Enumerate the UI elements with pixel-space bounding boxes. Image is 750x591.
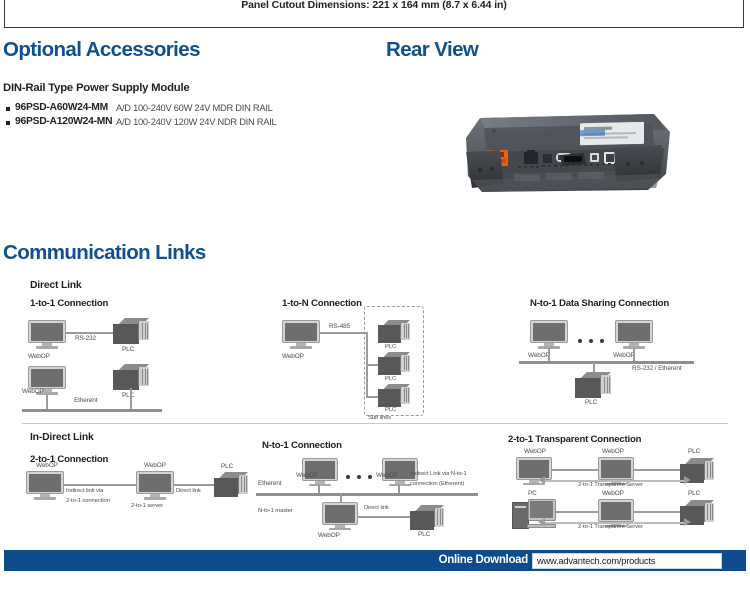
webop-monitor [530, 320, 568, 350]
webop-label: WebOP [524, 448, 546, 455]
panel-cutout-box: Panel Cutout Dimensions: 221 x 164 mm (8… [4, 0, 744, 28]
webop-monitor [26, 471, 64, 501]
sub-links-caption: Sub links [368, 415, 391, 421]
webop-monitor [136, 471, 174, 501]
transparent-link-line [556, 511, 598, 513]
two-to-one-server-caption: 2-to-1 server [131, 503, 163, 509]
panel-cutout-caption: Panel Cutout Dimensions: 221 x 164 mm (8… [5, 0, 743, 11]
webop-label: WebOP [613, 352, 635, 359]
plc-device [378, 384, 410, 407]
webop-master-monitor [322, 502, 358, 531]
plc-label: PLC [585, 399, 597, 406]
page-root: Panel Cutout Dimensions: 221 x 164 mm (8… [0, 0, 750, 591]
plc-device [378, 352, 410, 375]
rs485-label: RS-485 [329, 323, 350, 330]
communication-diagrams: Direct Link 1-to-1 Connection WebOP RS-2… [0, 268, 750, 540]
accessory-description: A/D 100-240V 120W 24V NDR DIN RAIL [116, 117, 276, 127]
transparent-link-line [552, 469, 598, 471]
webop-server-label: WebOP [602, 448, 624, 455]
plc-device [575, 372, 611, 398]
one-to-n-title: 1-to-N Connection [282, 298, 362, 309]
accessory-description: A/D 100-240V 60W 24V MDR DIN RAIL [116, 103, 273, 113]
drop-line [548, 348, 550, 362]
n-to-1-data-sharing-title: N-to-1 Data Sharing Connection [530, 298, 669, 309]
n-to-one-indirect-title: N-to-1 Connection [262, 440, 342, 451]
accessory-sku: 96PSD-A120W24-MN [15, 116, 112, 127]
arrow-left-icon [538, 518, 545, 526]
webop-label: WebOP [376, 472, 398, 479]
drop-line [130, 388, 132, 410]
rear-view-product-image [448, 100, 684, 205]
plc-label: PLC [418, 531, 430, 538]
rs232-label: RS-232 [75, 335, 96, 342]
indirect-link-line [64, 484, 136, 486]
rs485-link-line [320, 332, 368, 334]
plc-label: PLC [385, 407, 396, 413]
din-rail-group-title: DIN-Rail Type Power Supply Module [3, 82, 190, 94]
ellipsis-dots [578, 330, 611, 348]
webop-server-label: WebOP [144, 462, 166, 469]
transparent-link-line [634, 469, 682, 471]
etherent-bus-label: Etherent [258, 480, 281, 487]
two-to-one-transparent-title: 2-to-1 Transparent Connection [508, 434, 641, 445]
plc-label: PLC [385, 344, 396, 350]
direct-link-group-label: Direct Link [30, 280, 82, 291]
online-download-url-box[interactable]: www.advantech.com/products [532, 553, 722, 569]
webop-label: WebOP [28, 353, 50, 360]
ethernet-bus-line [22, 409, 162, 412]
transparent-server-caption: 2-to-1 Transparent Server [578, 524, 643, 530]
webop-server-label: WebOP [602, 490, 624, 497]
online-download-label: Online Download [439, 554, 528, 566]
arrow-left-icon [538, 476, 545, 484]
arrow-right-icon [684, 476, 691, 484]
rs232-link-line [66, 332, 113, 334]
webop-monitor [282, 320, 320, 350]
n-to-one-master-label: N-to-1 master [258, 508, 293, 514]
plc-device [113, 318, 149, 344]
plc-device [214, 472, 248, 497]
n-to-one-note-line1: Indirect Link via N-to-1 [410, 471, 467, 477]
pc-label: PC [528, 490, 537, 497]
ellipsis-dots [346, 466, 379, 484]
plc-label: PLC [688, 448, 700, 455]
plc-label: PLC [122, 346, 134, 353]
webop-label: WebOP [36, 462, 58, 469]
plc-device [113, 364, 149, 390]
accessory-sku: 96PSD-A60W24-MM [15, 102, 108, 113]
webop-label: WebOP [22, 388, 44, 395]
direct-link-label: Direct link [176, 488, 201, 494]
transparent-server-caption: 2-to-1 Transparent Server [578, 482, 643, 488]
indirect-link-group-label: In-Direct Link [30, 432, 94, 443]
n-to-one-note-line2: connection (Etherent) [410, 481, 464, 487]
etherent-bus-line [256, 493, 478, 496]
rear-view-heading: Rear View [386, 38, 478, 62]
plc-label: PLC [385, 376, 396, 382]
webop-monitor [615, 320, 653, 350]
webop-monitor [28, 320, 66, 350]
webop-label: WebOP [296, 472, 318, 479]
webop-label: WebOP [528, 352, 550, 359]
webop-label: WebOP [282, 353, 304, 360]
drop-line [633, 348, 635, 362]
one-to-one-title: 1-to-1 Connection [30, 298, 108, 309]
direct-link-line [174, 484, 216, 486]
direct-link-line [358, 516, 412, 518]
rs232-etherent-label: RS-232 / Etherent [632, 365, 681, 372]
communication-links-heading: Communication Links [3, 241, 206, 265]
shared-bus-line [519, 361, 694, 364]
bullet-icon [6, 121, 10, 125]
diagram-divider [22, 423, 728, 424]
plc-device [410, 505, 444, 530]
transparent-link-line [634, 511, 682, 513]
drop-line [46, 394, 48, 410]
online-download-url[interactable]: www.advantech.com/products [537, 556, 655, 566]
plc-device [378, 320, 410, 343]
plc-label: PLC [122, 392, 134, 399]
direct-link-label: Direct link [364, 505, 389, 511]
optional-accessories-heading: Optional Accessories [3, 38, 200, 62]
footer-bar: Online Download www.advantech.com/produc… [4, 550, 746, 571]
arrow-right-icon [684, 518, 691, 526]
pc-workstation [512, 499, 556, 529]
indirect-note-line1: Indirect link via [66, 488, 103, 494]
etherent-label: Etherent [74, 397, 97, 404]
plc-label: PLC [688, 490, 700, 497]
indirect-note-line2: 2-to-1 connection [66, 498, 110, 504]
plc-label: PLC [221, 463, 233, 470]
bullet-icon [6, 107, 10, 111]
webop-master-label: WebOP [318, 532, 340, 539]
